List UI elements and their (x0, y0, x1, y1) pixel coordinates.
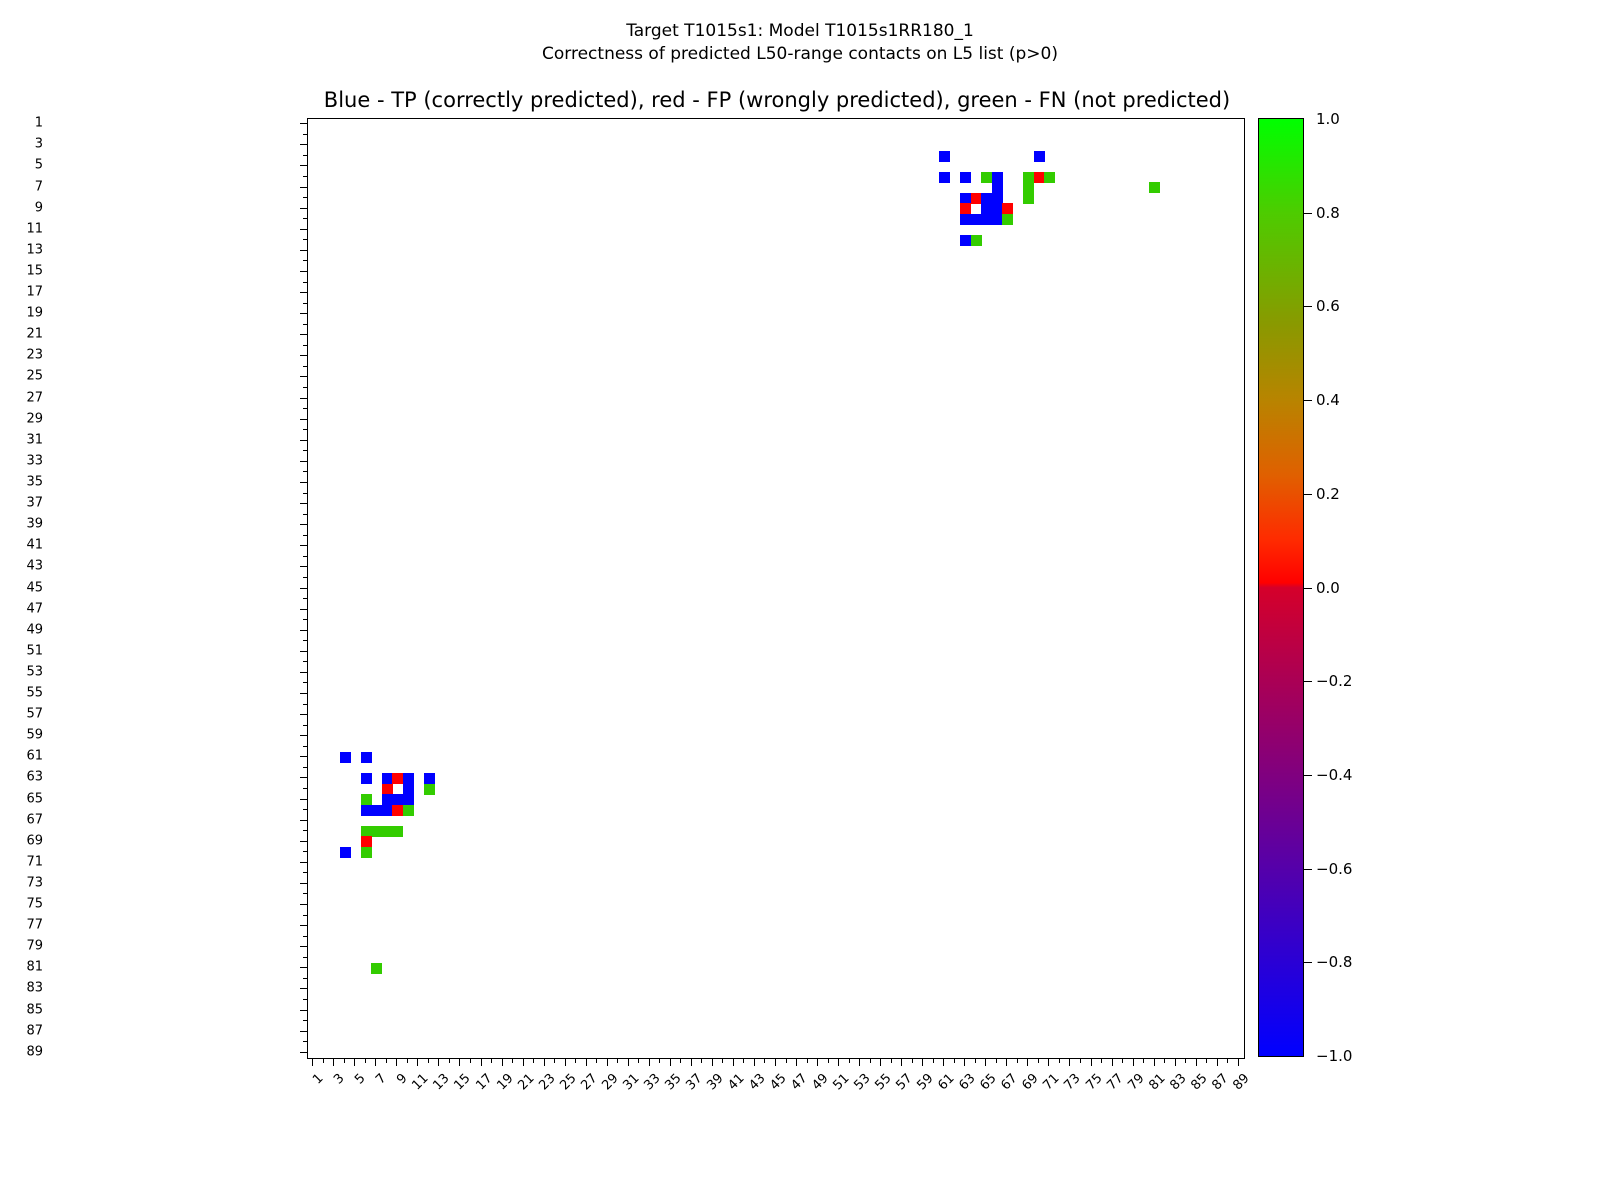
y-axis-tick-label: 55 (26, 686, 43, 701)
contact-cell (340, 752, 351, 763)
x-axis-tick (701, 1058, 702, 1063)
contact-cell (981, 214, 992, 225)
colorbar-tick-label: 0.6 (1316, 297, 1340, 315)
x-axis-tick (1217, 1058, 1218, 1066)
x-axis-tick (828, 1058, 829, 1063)
contact-cell (992, 182, 1003, 193)
contact-cell (971, 193, 982, 204)
y-axis-tick-label: 9 (35, 200, 43, 215)
y-axis-tick-label: 11 (26, 221, 43, 236)
colorbar-tick-label: 0.0 (1316, 579, 1340, 597)
y-axis-tick-label: 63 (26, 770, 43, 785)
y-axis-tick-label: 87 (26, 1023, 43, 1038)
x-axis-tick (491, 1058, 492, 1063)
y-axis-tick-label: 1 (35, 116, 43, 131)
y-axis-tick-label: 75 (26, 897, 43, 912)
colorbar-tick-label: −0.6 (1316, 860, 1352, 878)
x-axis-tick (1069, 1058, 1070, 1066)
x-axis: 1357911131517192123252729313335373941434… (0, 1057, 1300, 1197)
colorbar-gradient (1258, 118, 1304, 1057)
contact-cell (1002, 203, 1013, 214)
x-axis-tick (523, 1058, 524, 1066)
x-axis-tick (901, 1058, 902, 1066)
colorbar-tick (1304, 869, 1312, 870)
y-axis-tick-label: 21 (26, 327, 43, 342)
y-axis-tick-label: 53 (26, 664, 43, 679)
y-axis-tick-label: 77 (26, 918, 43, 933)
colorbar-tick (1304, 775, 1312, 776)
contact-cell (939, 151, 950, 162)
x-axis-tick (1143, 1058, 1144, 1063)
x-axis-tick (943, 1058, 944, 1066)
contact-cell (340, 847, 351, 858)
x-axis-tick (722, 1058, 723, 1063)
x-axis-tick (775, 1058, 776, 1066)
x-axis-tick (428, 1058, 429, 1063)
colorbar-tick-label: 1.0 (1316, 110, 1340, 128)
x-axis-tick (617, 1058, 618, 1063)
y-axis: 1357911131517192123252729313335373941434… (0, 0, 307, 1060)
y-axis-tick-label: 43 (26, 559, 43, 574)
x-axis-tick (481, 1058, 482, 1066)
y-axis-tick-label: 49 (26, 622, 43, 637)
x-axis-tick (365, 1058, 366, 1063)
colorbar-tick (1304, 213, 1312, 214)
contact-cell (361, 826, 372, 837)
x-axis-tick (838, 1058, 839, 1066)
x-axis-tick (1027, 1058, 1028, 1066)
contact-cell (981, 203, 992, 214)
contact-cell (960, 214, 971, 225)
y-axis-tick-label: 3 (35, 137, 43, 152)
contact-cell (960, 235, 971, 246)
colorbar-tick-label: −0.4 (1316, 766, 1352, 784)
contact-cell (960, 172, 971, 183)
contact-cell (361, 752, 372, 763)
contact-cell (403, 773, 414, 784)
x-axis-tick (533, 1058, 534, 1063)
x-axis-tick (607, 1058, 608, 1066)
contact-cell (403, 805, 414, 816)
contact-cell (424, 773, 435, 784)
contact-cell (403, 784, 414, 795)
contact-cell (361, 836, 372, 847)
contact-cell (361, 794, 372, 805)
x-axis-tick (1080, 1058, 1081, 1063)
x-axis-tick (933, 1058, 934, 1063)
y-axis-tick-label: 29 (26, 411, 43, 426)
colorbar-tick (1304, 588, 1312, 589)
x-axis-tick (1238, 1058, 1239, 1066)
x-axis-tick (1017, 1058, 1018, 1063)
y-axis-tick-label: 79 (26, 939, 43, 954)
y-axis-tick-label: 45 (26, 580, 43, 595)
x-axis-tick (512, 1058, 513, 1063)
y-axis-tick-label: 51 (26, 643, 43, 658)
contact-cell (1023, 172, 1034, 183)
colorbar-tick-label: −0.8 (1316, 953, 1352, 971)
x-axis-tick (649, 1058, 650, 1066)
x-axis-tick (1227, 1058, 1228, 1063)
x-axis-tick (859, 1058, 860, 1066)
y-axis-tick-label: 23 (26, 348, 43, 363)
y-axis-tick-label: 59 (26, 728, 43, 743)
x-axis-tick (922, 1058, 923, 1066)
x-axis-tick (628, 1058, 629, 1066)
contact-cell (382, 794, 393, 805)
x-axis-tick (1059, 1058, 1060, 1063)
y-axis-tick-label: 73 (26, 875, 43, 890)
x-axis-tick (807, 1058, 808, 1063)
x-axis-tick (596, 1058, 597, 1063)
contact-cell (1034, 151, 1045, 162)
x-axis-tick (1038, 1058, 1039, 1063)
contact-cell (992, 172, 1003, 183)
contact-cell (361, 773, 372, 784)
contact-cell (1034, 172, 1045, 183)
x-axis-tick (438, 1058, 439, 1066)
y-axis-tick-label: 25 (26, 369, 43, 384)
colorbar-tick-label: −1.0 (1316, 1047, 1352, 1065)
y-axis-tick-label: 85 (26, 1002, 43, 1017)
contact-cell (382, 826, 393, 837)
contact-cell (371, 805, 382, 816)
x-axis-tick (1206, 1058, 1207, 1063)
x-axis-tick (1196, 1058, 1197, 1066)
contact-cell (382, 784, 393, 795)
x-axis-tick (1112, 1058, 1113, 1066)
contact-cell (960, 193, 971, 204)
colorbar-tick (1304, 400, 1312, 401)
contact-cell (960, 203, 971, 214)
x-axis-tick (817, 1058, 818, 1066)
y-axis-tick-label: 39 (26, 517, 43, 532)
contact-cell (392, 805, 403, 816)
colorbar-tick-label: −0.2 (1316, 672, 1352, 690)
x-axis-tick (880, 1058, 881, 1066)
contact-cell (971, 214, 982, 225)
contact-cell (371, 826, 382, 837)
contact-cell (392, 794, 403, 805)
y-axis-tick-label: 19 (26, 306, 43, 321)
contact-cell (403, 794, 414, 805)
y-axis-tick-label: 15 (26, 263, 43, 278)
y-axis-tick-label: 71 (26, 854, 43, 869)
contact-cell (981, 172, 992, 183)
contact-map-plot[interactable] (307, 118, 1245, 1059)
x-axis-tick (375, 1058, 376, 1066)
x-axis-tick (502, 1058, 503, 1066)
x-axis-tick (786, 1058, 787, 1063)
contact-cell (382, 805, 393, 816)
x-axis-tick (1091, 1058, 1092, 1066)
contact-map-cells (308, 119, 1244, 1058)
y-axis-tick-label: 5 (35, 158, 43, 173)
y-axis-tick-label: 65 (26, 791, 43, 806)
contact-cell (939, 172, 950, 183)
y-axis-tick-label: 81 (26, 960, 43, 975)
x-axis-tick (459, 1058, 460, 1066)
y-axis-tick-label: 67 (26, 812, 43, 827)
x-axis-tick (680, 1058, 681, 1063)
x-axis-tick (764, 1058, 765, 1063)
y-axis-tick-label: 33 (26, 453, 43, 468)
contact-cell (1023, 193, 1034, 204)
x-axis-tick (544, 1058, 545, 1066)
contact-cell (424, 784, 435, 795)
y-axis-tick-label: 37 (26, 496, 43, 511)
x-axis-tick (312, 1058, 313, 1066)
x-axis-tick (565, 1058, 566, 1066)
x-axis-tick (575, 1058, 576, 1063)
colorbar-container: 1.00.80.60.40.20.0−0.2−0.4−0.6−0.8−1.0 (1258, 118, 1304, 1057)
x-axis-tick (743, 1058, 744, 1063)
x-axis-tick (954, 1058, 955, 1063)
x-axis-tick (1175, 1058, 1176, 1066)
x-axis-tick (1006, 1058, 1007, 1066)
contact-cell (392, 826, 403, 837)
x-axis-tick (975, 1058, 976, 1063)
x-axis-tick (670, 1058, 671, 1066)
x-axis-tick (1185, 1058, 1186, 1063)
x-axis-tick (470, 1058, 471, 1063)
colorbar-tick (1304, 494, 1312, 495)
y-axis-tick-label: 35 (26, 474, 43, 489)
y-axis-tick-label: 7 (35, 179, 43, 194)
x-axis-tick (870, 1058, 871, 1063)
x-axis-tick (712, 1058, 713, 1066)
contact-cell (1044, 172, 1055, 183)
contact-cell (392, 773, 403, 784)
x-axis-tick (1154, 1058, 1155, 1066)
contact-cell (1149, 182, 1160, 193)
x-axis-tick (1101, 1058, 1102, 1063)
y-axis-tick-label: 41 (26, 538, 43, 553)
x-axis-tick (449, 1058, 450, 1063)
x-axis-tick (891, 1058, 892, 1063)
contact-cell (1002, 214, 1013, 225)
colorbar-tick-label: 0.4 (1316, 391, 1340, 409)
contact-cell (981, 193, 992, 204)
x-axis-tick (964, 1058, 965, 1066)
contact-cell (971, 235, 982, 246)
contact-cell (1023, 182, 1034, 193)
x-axis-tick (396, 1058, 397, 1066)
contact-cell (992, 203, 1003, 214)
x-axis-tick (417, 1058, 418, 1066)
y-axis-tick-label: 13 (26, 242, 43, 257)
y-axis-tick-label: 57 (26, 707, 43, 722)
y-axis-tick-label: 47 (26, 601, 43, 616)
contact-cell (361, 805, 372, 816)
colorbar-tick (1304, 962, 1312, 963)
colorbar-tick (1304, 681, 1312, 682)
x-axis-tick (912, 1058, 913, 1063)
x-axis-tick (754, 1058, 755, 1066)
x-axis-tick (659, 1058, 660, 1063)
contact-cell (992, 193, 1003, 204)
x-axis-tick (638, 1058, 639, 1063)
contact-cell (992, 214, 1003, 225)
x-axis-tick (333, 1058, 334, 1066)
x-axis-tick (354, 1058, 355, 1066)
x-axis-tick (407, 1058, 408, 1063)
contact-cell (371, 963, 382, 974)
x-axis-tick (1133, 1058, 1134, 1066)
y-axis-tick-label: 27 (26, 390, 43, 405)
y-axis-tick-label: 61 (26, 749, 43, 764)
x-axis-tick (1164, 1058, 1165, 1063)
colorbar-tick-label: 0.8 (1316, 204, 1340, 222)
y-axis-tick-label: 69 (26, 833, 43, 848)
contact-cell (361, 847, 372, 858)
x-axis-tick (586, 1058, 587, 1066)
chart-legend-subtitle-text: Blue - TP (correctly predicted), red - F… (324, 88, 1230, 112)
x-axis-tick (1122, 1058, 1123, 1063)
x-axis-tick (796, 1058, 797, 1066)
y-axis-tick-label: 17 (26, 285, 43, 300)
x-axis-tick (733, 1058, 734, 1066)
contact-cell (382, 773, 393, 784)
x-axis-tick (344, 1058, 345, 1063)
y-axis-tick-label: 83 (26, 981, 43, 996)
x-axis-tick (323, 1058, 324, 1063)
x-axis-tick (691, 1058, 692, 1066)
x-axis-tick (554, 1058, 555, 1063)
x-axis-tick (985, 1058, 986, 1066)
x-axis-tick (996, 1058, 997, 1063)
x-axis-tick (849, 1058, 850, 1063)
x-axis-tick (1048, 1058, 1049, 1066)
y-axis-tick-label: 31 (26, 432, 43, 447)
colorbar-tick-label: 0.2 (1316, 485, 1340, 503)
colorbar-tick (1304, 306, 1312, 307)
x-axis-tick (386, 1058, 387, 1063)
